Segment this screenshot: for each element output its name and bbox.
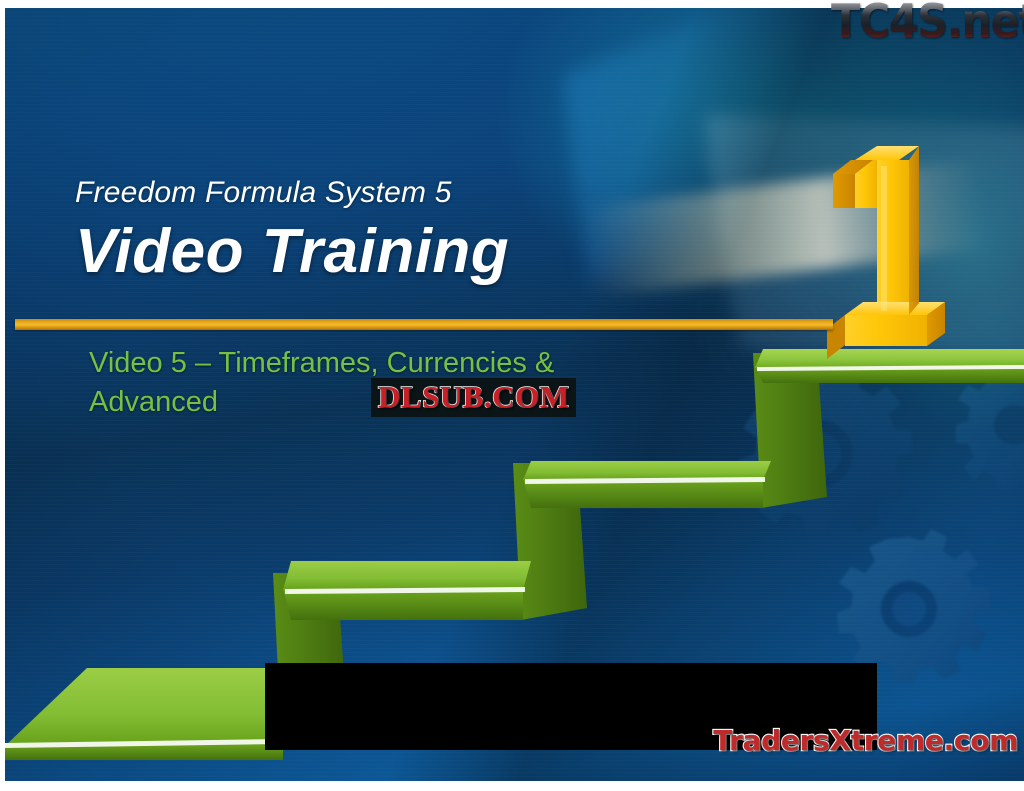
step-top-2 bbox=[283, 561, 531, 590]
watermark-tradersxtreme-wrap: TradersXtreme.com bbox=[713, 727, 1018, 755]
gold-divider-line bbox=[15, 319, 833, 330]
step-edge-1 bbox=[5, 743, 283, 760]
eyebrow-title: Freedom Formula System 5 bbox=[75, 176, 805, 209]
title-block: Freedom Formula System 5 Video Training bbox=[75, 176, 805, 286]
watermark-tc4s: TC4S.net bbox=[831, 0, 1024, 44]
slide-canvas: Freedom Formula System 5 Video Training … bbox=[5, 8, 1024, 781]
step-riser-3 bbox=[513, 463, 587, 620]
numeral-one-graphic bbox=[815, 116, 955, 371]
watermark-tradersxtreme: TradersXtreme.com bbox=[713, 727, 1018, 755]
watermark-dlsub: DLSUB.COM bbox=[371, 378, 576, 417]
step-top-1 bbox=[5, 668, 291, 746]
step-highlight-2 bbox=[285, 587, 525, 594]
slide-root: Freedom Formula System 5 Video Training … bbox=[0, 0, 1024, 791]
step-edge-2 bbox=[283, 588, 523, 620]
step-highlight-1 bbox=[5, 739, 283, 748]
page-title: Video Training bbox=[75, 217, 805, 286]
